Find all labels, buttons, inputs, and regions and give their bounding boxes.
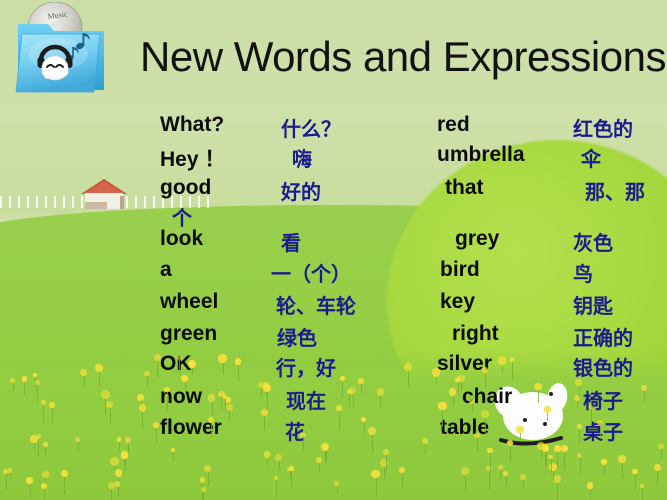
word-english-right: key <box>440 290 475 314</box>
flower-stem <box>342 381 343 397</box>
flower-stem <box>156 428 157 446</box>
flower-stem <box>490 453 491 472</box>
flower-stem <box>173 452 174 461</box>
word-chinese-right: 那、那 <box>585 176 645 205</box>
flower <box>534 383 542 391</box>
word-chinese-right: 银色的 <box>573 352 633 381</box>
flower-stem <box>590 489 591 500</box>
flower-stem <box>267 392 268 410</box>
flower-stem <box>119 442 120 451</box>
word-chinese-left: 一（个） <box>271 258 351 287</box>
word-english-left: OK <box>160 352 192 376</box>
flower-stem <box>349 394 350 408</box>
flower <box>264 451 270 457</box>
flower <box>115 481 120 486</box>
flower-stem <box>6 474 7 489</box>
flower-stem <box>547 413 548 422</box>
word-english-left: What? <box>160 113 224 137</box>
flower <box>164 387 170 393</box>
flower-stem <box>364 422 365 433</box>
flower-stem <box>408 371 409 386</box>
flower <box>316 457 322 463</box>
flower-stem <box>520 433 521 442</box>
flower-stem <box>325 451 326 463</box>
word-english-left: a <box>160 258 172 282</box>
flower-stem <box>510 446 511 463</box>
flower-stem <box>319 463 320 472</box>
flower <box>106 401 113 408</box>
flower <box>589 405 593 409</box>
flower <box>208 394 215 401</box>
flower-stem <box>644 391 645 402</box>
flower-stem <box>657 471 658 486</box>
flower-stem <box>179 360 180 374</box>
slide-canvas: Music New Words and Expressions What?什么 <box>0 0 667 500</box>
flower-stem <box>553 471 554 481</box>
flower-stem <box>267 458 268 467</box>
flower-stem <box>34 443 35 452</box>
flower <box>544 406 550 412</box>
flower <box>432 368 441 377</box>
flower-stem <box>502 365 503 374</box>
word-chinese-right: 椅子 <box>583 385 623 414</box>
flower-stem <box>506 476 507 487</box>
flower-stem <box>551 459 552 473</box>
flower-stem <box>376 478 377 496</box>
word-chinese-right: 红色的 <box>573 113 633 142</box>
word-english-left: Hey ！ <box>160 143 225 173</box>
flower <box>601 459 607 465</box>
word-english-right: grey <box>455 227 499 251</box>
flower-stem <box>52 408 53 423</box>
word-chinese-right: 钥匙 <box>573 290 613 319</box>
flower-stem <box>337 486 338 495</box>
flower-stem <box>489 471 490 488</box>
word-english-right: bird <box>440 258 480 282</box>
flower-stem <box>546 452 547 467</box>
flower <box>218 354 227 363</box>
word-english-right: chair <box>462 385 512 409</box>
flower <box>461 467 469 475</box>
flower-stem <box>577 401 578 408</box>
word-chinese-right: 桌子 <box>583 416 623 445</box>
word-chinese-left: 看 <box>281 227 301 256</box>
flower <box>36 434 41 439</box>
flower-stem <box>229 411 230 420</box>
flower-stem <box>591 409 592 424</box>
flower-stem <box>453 396 454 406</box>
flower <box>561 445 568 452</box>
flower <box>139 404 146 411</box>
flower-stem <box>37 385 38 403</box>
flower <box>121 451 128 458</box>
flower <box>115 469 122 476</box>
flower-stem <box>261 388 262 397</box>
flower-stem <box>579 386 580 397</box>
flower-stem <box>223 363 224 375</box>
flower-stem <box>580 458 581 474</box>
flower-stem <box>78 442 79 451</box>
flower-stem <box>384 467 385 480</box>
flower-stem <box>192 368 193 376</box>
flower <box>61 470 68 477</box>
word-chinese-left: 绿色 <box>277 322 317 351</box>
flower <box>658 444 664 450</box>
flower <box>321 443 329 451</box>
flower-stem <box>185 382 186 393</box>
word-chinese-right: 伞 <box>581 143 601 172</box>
flower <box>399 467 405 473</box>
flower <box>177 355 182 360</box>
flower-stem <box>147 376 148 386</box>
flower-stem <box>557 452 558 468</box>
flower-stem <box>500 470 501 481</box>
flower-stem <box>512 362 513 380</box>
flower-stem <box>436 377 437 384</box>
flower-stem <box>458 382 459 395</box>
flower <box>377 388 384 395</box>
flower <box>554 445 561 452</box>
flower-stem <box>361 384 362 395</box>
flower-stem <box>157 361 158 377</box>
flower <box>498 465 503 470</box>
flower-stem <box>465 475 466 493</box>
flower-stem <box>600 426 601 437</box>
flower <box>101 390 110 399</box>
flower-stem <box>523 480 524 488</box>
flower <box>181 375 188 382</box>
flower-stem <box>30 484 31 498</box>
flower-stem <box>225 399 226 411</box>
flower-stem <box>111 489 112 500</box>
flower-stem <box>425 444 426 455</box>
flower-stem <box>642 488 643 500</box>
flower <box>548 455 553 460</box>
flower-stem <box>353 394 354 406</box>
flower <box>510 357 514 361</box>
word-english-right: red <box>437 113 470 137</box>
flower-stem <box>44 489 45 500</box>
flower <box>358 378 363 383</box>
flower <box>235 358 241 364</box>
flower-stem <box>579 429 580 445</box>
flower-stem <box>142 412 143 428</box>
word-list: What?什么？Hey ！嗨good好的个look看a一（个）wheel轮、车轮… <box>0 0 667 500</box>
flower-stem <box>208 472 209 486</box>
flower-stem <box>541 450 542 459</box>
flower <box>188 360 196 368</box>
word-english-right: table <box>440 416 489 440</box>
flower <box>49 402 55 408</box>
flower <box>336 405 342 411</box>
flower-stem <box>128 443 129 454</box>
flower <box>516 426 524 434</box>
flower-stem <box>110 408 111 424</box>
flower <box>577 424 582 429</box>
flower <box>587 482 593 488</box>
flower-stem <box>211 423 212 438</box>
flower <box>498 356 506 364</box>
flower-stem <box>303 438 304 451</box>
word-english-right: umbrella <box>437 143 525 167</box>
flower-stem <box>99 372 100 386</box>
flower-stem <box>84 376 85 388</box>
flower-stem <box>118 487 119 497</box>
flower-stem <box>10 473 11 481</box>
word-chinese-right: 正确的 <box>573 322 633 351</box>
word-chinese-left: 什么？ <box>281 113 341 142</box>
word-english-left: green <box>160 322 217 346</box>
word-chinese-right: 灰色 <box>573 227 613 256</box>
flower-stem <box>203 492 204 500</box>
flower <box>41 483 47 489</box>
flower <box>8 468 12 472</box>
flower <box>201 487 206 492</box>
flower <box>218 391 224 397</box>
flower-stem <box>604 465 605 475</box>
flower <box>487 448 492 453</box>
flower <box>144 371 150 377</box>
word-english-right: right <box>452 322 499 346</box>
flower-stem <box>64 477 65 494</box>
flower-stem <box>477 438 478 453</box>
flower <box>43 442 48 447</box>
flower-stem <box>339 411 340 430</box>
word-chinese-left: 嗨 <box>292 143 312 172</box>
flower-stem <box>557 483 558 500</box>
flower-stem <box>485 418 486 434</box>
flower <box>42 471 48 477</box>
word-chinese-left: 花 <box>285 416 305 445</box>
flower-stem <box>124 459 125 466</box>
flower <box>226 404 233 411</box>
flower <box>171 448 175 452</box>
flower-stem <box>13 383 14 391</box>
flower-stem <box>622 463 623 477</box>
flower-stem <box>661 449 662 458</box>
word-chinese-left: 好的 <box>281 176 321 205</box>
flower-stem <box>402 473 403 488</box>
flower <box>455 378 460 383</box>
flower-stem <box>564 452 565 470</box>
flower-stem <box>386 455 387 474</box>
flower <box>153 422 159 428</box>
flower-stem <box>43 405 44 423</box>
flower-stem <box>442 410 443 427</box>
flower <box>438 402 447 411</box>
flower-stem <box>212 402 213 416</box>
flower <box>200 477 205 482</box>
flower-stem <box>238 365 239 382</box>
flower <box>154 354 161 361</box>
word-chinese-right: 鸟 <box>573 258 593 287</box>
flower-stem <box>635 474 636 490</box>
flower-stem <box>167 392 168 410</box>
word-english-left: good <box>160 176 211 200</box>
flower-stem <box>290 471 291 478</box>
flower-stem <box>45 447 46 455</box>
flower-stem <box>372 435 373 453</box>
flower-stem <box>472 404 473 412</box>
word-english-left: wheel <box>160 290 218 314</box>
word-chinese-left: 行，好 <box>276 352 336 381</box>
flower-stem <box>276 480 277 497</box>
flower <box>263 384 271 392</box>
word-english-right: that <box>445 176 484 200</box>
flower-stem <box>291 471 292 486</box>
word-chinese-left: 轮、车轮 <box>276 290 356 319</box>
flower <box>340 376 345 381</box>
flower <box>41 400 45 404</box>
flower-stem <box>38 439 39 456</box>
word-english-left: look <box>160 227 203 251</box>
flower-stem <box>538 390 539 402</box>
flower-stem <box>221 397 222 409</box>
word-chinese-left: 现在 <box>286 385 326 414</box>
flower <box>208 417 214 423</box>
flower <box>542 444 549 451</box>
flower-stem <box>24 382 25 394</box>
flower-stem <box>461 382 462 390</box>
flower-stem <box>279 461 280 469</box>
flower-stem <box>485 373 486 388</box>
flower <box>334 481 338 485</box>
flower-stem <box>380 396 381 408</box>
flower-stem <box>264 416 265 430</box>
